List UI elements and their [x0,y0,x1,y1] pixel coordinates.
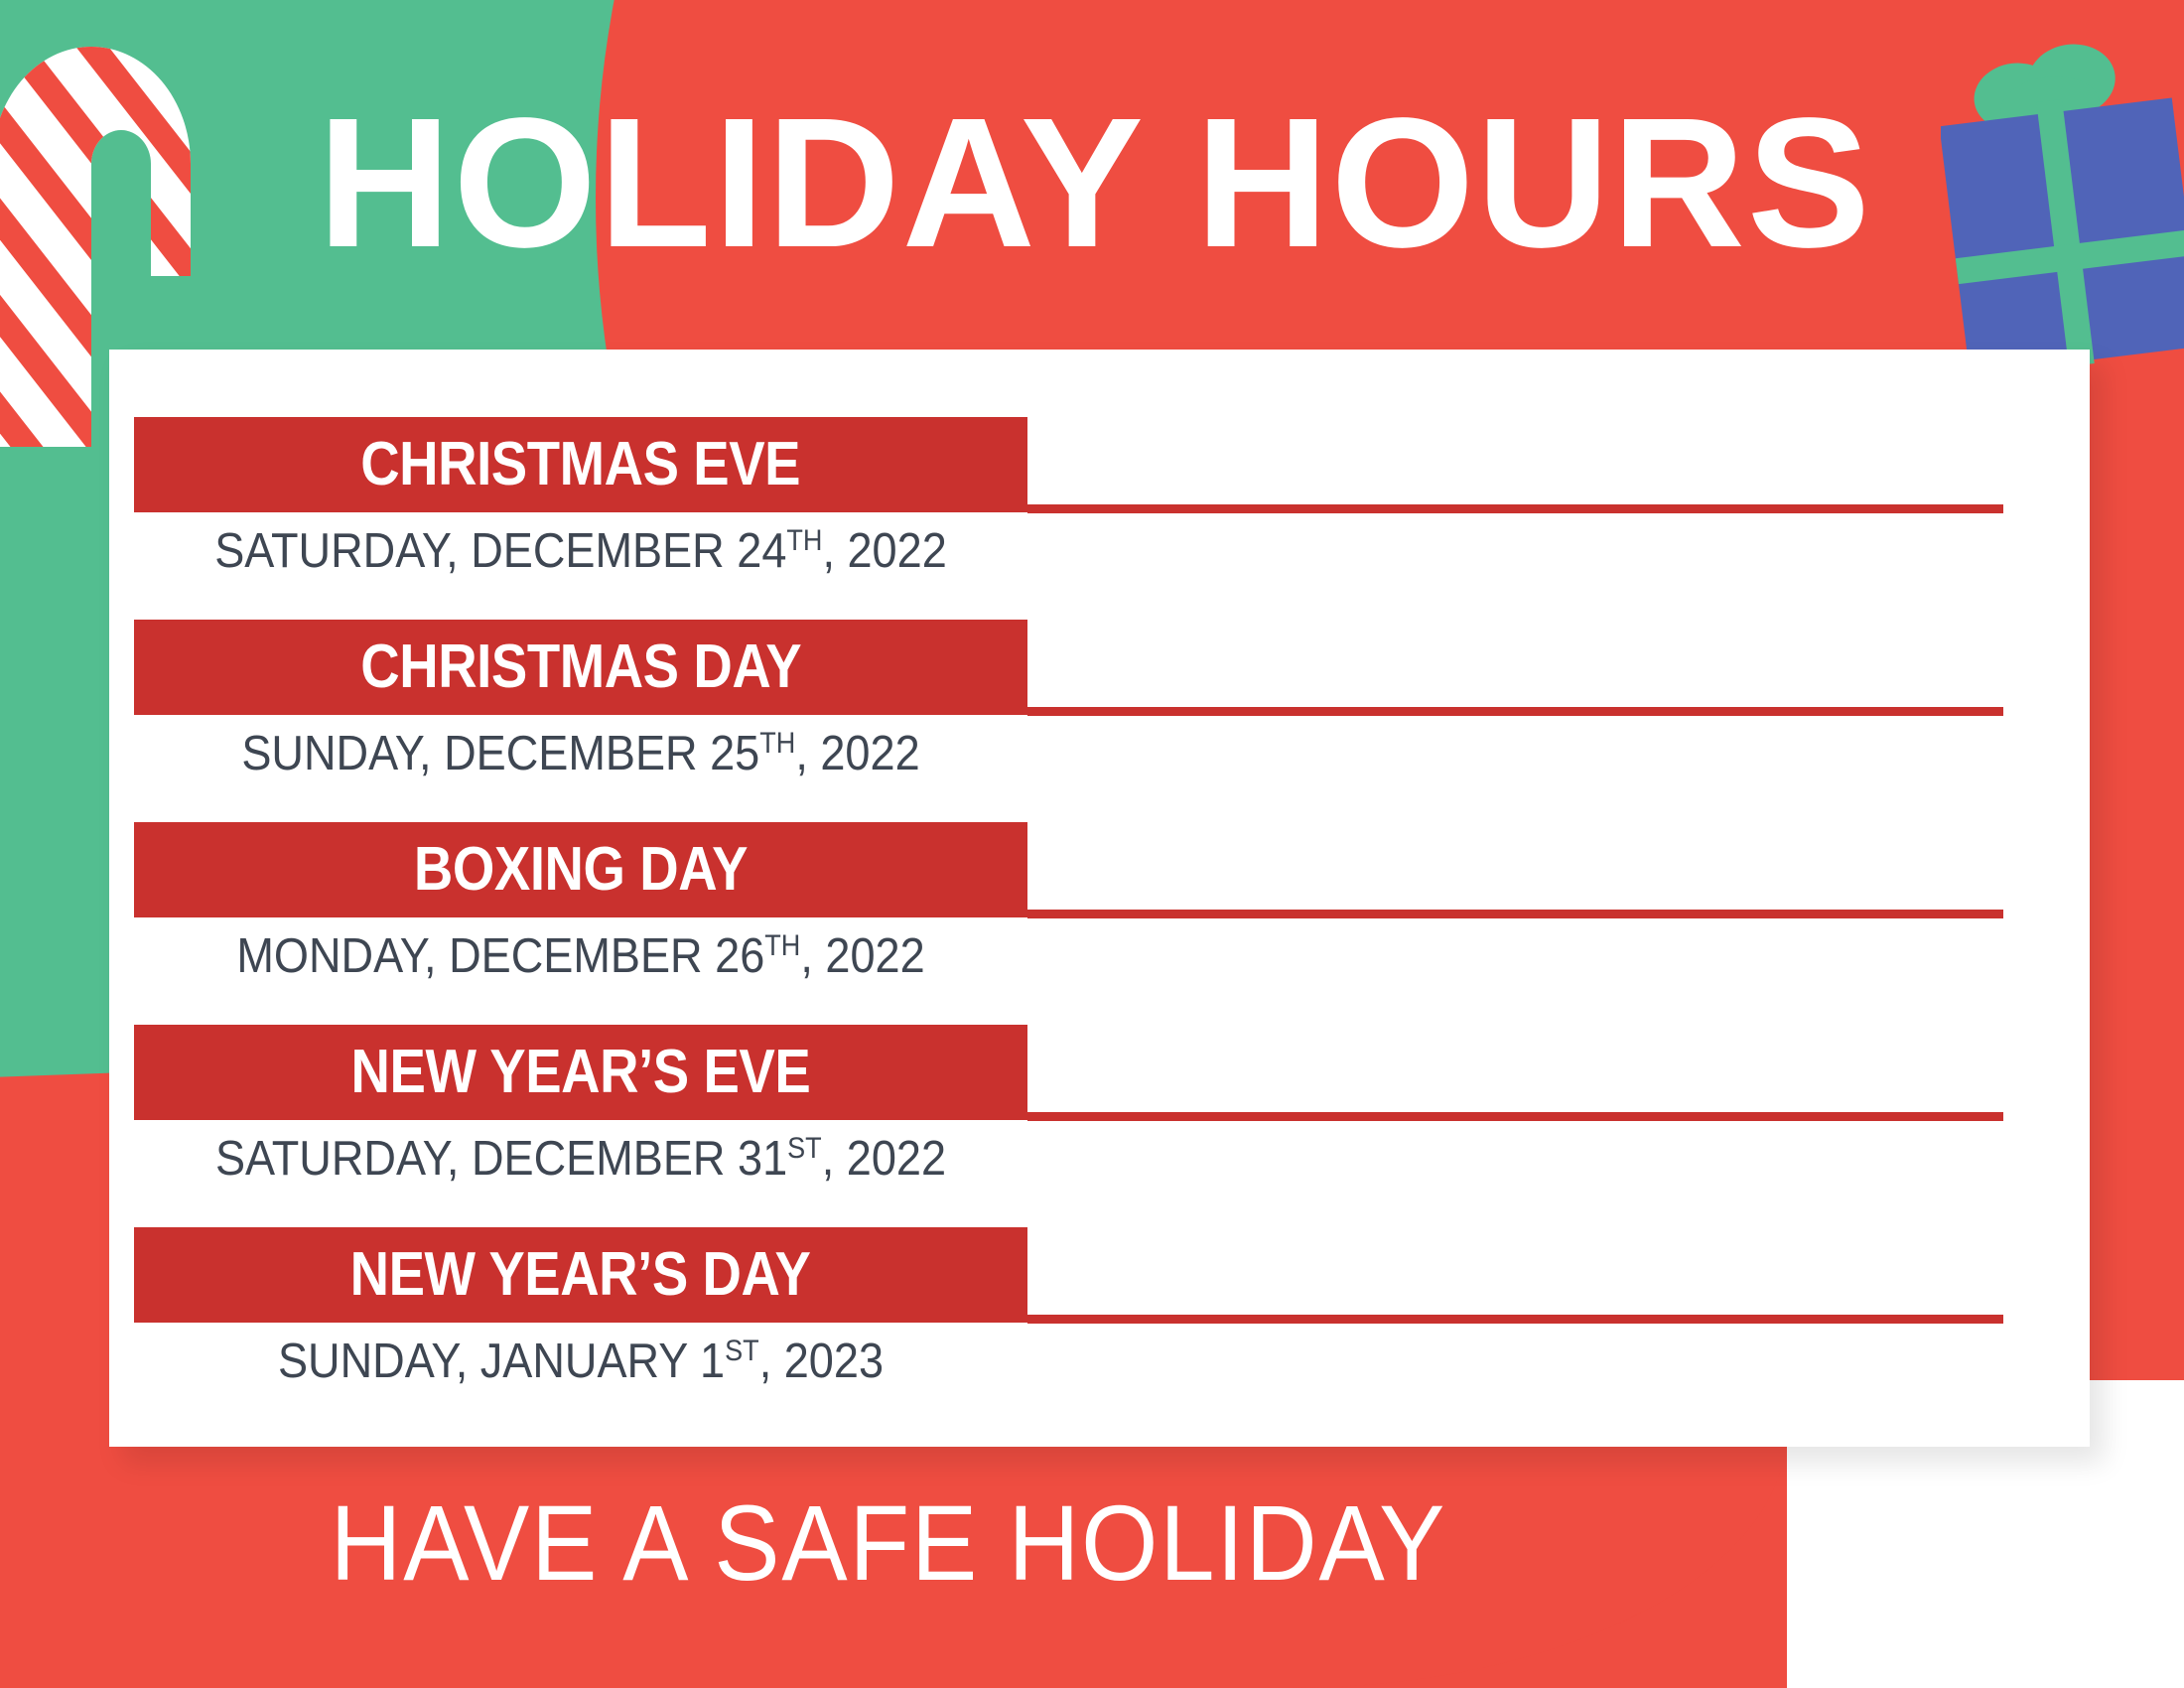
holiday-date-prefix: MONDAY, DECEMBER 26 [236,929,764,983]
holiday-date-suffix: , 2022 [822,524,946,578]
hours-rule-line [1027,504,2003,513]
holiday-name: NEW YEAR’S DAY [350,1244,811,1306]
footer-tagline: HAVE A SAFE HOLIDAY [71,1489,1706,1597]
holiday-date-ordinal: TH [786,524,822,557]
holiday-date-ordinal: ST [725,1335,759,1367]
holiday-banner: CHRISTMAS DAY [134,620,1027,715]
holiday-name: NEW YEAR’S EVE [351,1042,811,1103]
holiday-banner: CHRISTMAS EVE [134,417,1027,512]
holiday-name: BOXING DAY [414,839,748,901]
page-title: HOLIDAY HOURS [318,91,1946,276]
holiday-date: MONDAY, DECEMBER 26TH, 2022 [170,925,992,988]
hours-rule-line [1027,1112,2003,1121]
holiday-name: CHRISTMAS DAY [360,636,801,698]
holiday-date-prefix: SUNDAY, JANUARY 1 [278,1335,725,1388]
holiday-date: SATURDAY, DECEMBER 24TH, 2022 [170,520,992,583]
schedule-card: CHRISTMAS EVE SATURDAY, DECEMBER 24TH, 2… [109,350,2090,1447]
holiday-date: SUNDAY, DECEMBER 25TH, 2022 [170,723,992,785]
hours-rule-line [1027,1315,2003,1324]
holiday-date-ordinal: TH [759,727,795,760]
holiday-date: SATURDAY, DECEMBER 31ST, 2022 [170,1128,992,1191]
holiday-date-suffix: , 2022 [822,1132,946,1186]
holiday-hours-poster: HOLIDAY HOURS CHRISTMAS EVE SATURDAY, DE… [0,0,2184,1688]
hours-rule-line [1027,707,2003,716]
schedule-row: CHRISTMAS EVE SATURDAY, DECEMBER 24TH, 2… [109,417,2090,621]
schedule-row: BOXING DAY MONDAY, DECEMBER 26TH, 2022 [109,822,2090,1026]
holiday-date-prefix: SATURDAY, DECEMBER 31 [215,1132,787,1186]
schedule-row: NEW YEAR’S DAY SUNDAY, JANUARY 1ST, 2023 [109,1227,2090,1431]
holiday-date-suffix: , 2022 [800,929,924,983]
holiday-date-ordinal: TH [764,929,800,962]
holiday-banner: BOXING DAY [134,822,1027,917]
holiday-date-suffix: , 2023 [759,1335,884,1388]
schedule-rows: CHRISTMAS EVE SATURDAY, DECEMBER 24TH, 2… [109,350,2090,1447]
holiday-banner: NEW YEAR’S EVE [134,1025,1027,1120]
hours-rule-line [1027,910,2003,918]
holiday-date-suffix: , 2022 [795,727,919,780]
schedule-row: CHRISTMAS DAY SUNDAY, DECEMBER 25TH, 202… [109,620,2090,823]
holiday-date-prefix: SATURDAY, DECEMBER 24 [214,524,786,578]
schedule-row: NEW YEAR’S EVE SATURDAY, DECEMBER 31ST, … [109,1025,2090,1228]
gift-box-icon [1941,40,2184,367]
holiday-name: CHRISTMAS EVE [361,434,801,495]
holiday-date-ordinal: ST [787,1132,822,1165]
holiday-banner: NEW YEAR’S DAY [134,1227,1027,1323]
holiday-date: SUNDAY, JANUARY 1ST, 2023 [170,1331,992,1393]
holiday-date-prefix: SUNDAY, DECEMBER 25 [241,727,759,780]
